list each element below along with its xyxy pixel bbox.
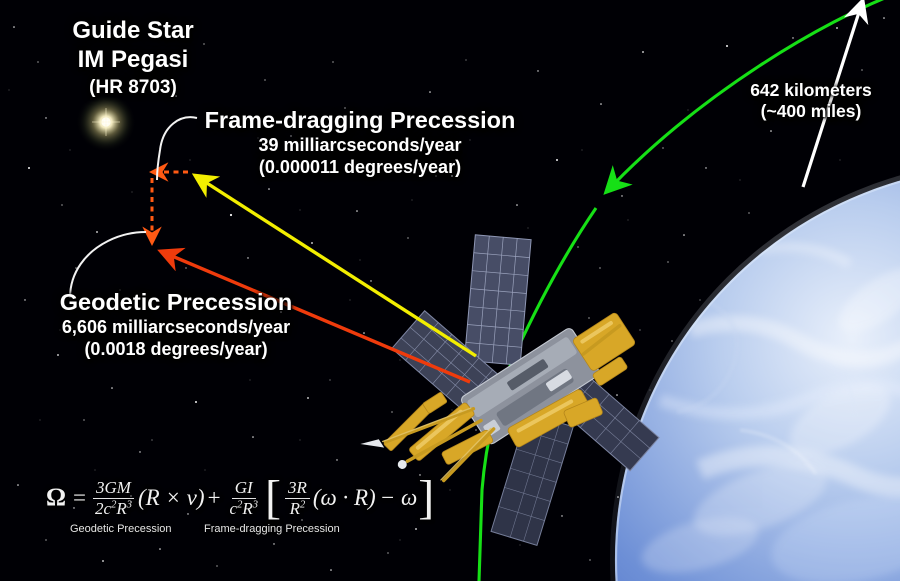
framedrag-minus-omega: − ω xyxy=(380,485,418,511)
geodetic-numerator: 3GM xyxy=(93,479,134,499)
diagram-canvas: Guide Star IM Pegasi (HR 8703) Frame-dra… xyxy=(0,0,900,581)
framedrag-den-base: c xyxy=(230,499,238,518)
geodetic-denominator: 2c2R3 xyxy=(92,499,135,518)
framedrag-inner-numerator: 3R xyxy=(285,479,310,499)
framedrag-inner-den-base: R xyxy=(290,499,300,518)
framedrag-inner-den-exp: 2 xyxy=(300,499,305,510)
formula-plus: + xyxy=(208,485,221,511)
geodetic-rate: 6,606 milliarcseconds/year xyxy=(36,317,316,339)
precession-formula: Ω = 3GM 2c2R3 (R × v) + GI c2R3 [ 3R R2 … xyxy=(46,470,435,539)
formula-caption-geodetic: Geodetic Precession xyxy=(70,523,172,535)
guide-star-catalog: (HR 8703) xyxy=(38,76,228,99)
frame-dragging-title: Frame-dragging Precession xyxy=(200,106,520,135)
frame-dragging-rate: 39 milliarcseconds/year xyxy=(200,135,520,157)
altitude-miles: (~400 miles) xyxy=(726,101,896,122)
bracket-open: [ xyxy=(265,479,281,517)
altitude-km: 642 kilometers xyxy=(726,80,896,101)
formula-omega: Ω xyxy=(46,484,66,512)
guide-star-line2: IM Pegasi xyxy=(38,45,228,74)
star-icon xyxy=(76,92,136,152)
guide-star-line1: Guide Star xyxy=(38,16,228,45)
framedrag-denominator: c2R3 xyxy=(227,499,261,518)
geodetic-title: Geodetic Precession xyxy=(36,288,316,317)
bracket-close: ] xyxy=(418,479,434,517)
geodetic-rate-degrees: (0.0018 degrees/year) xyxy=(36,339,316,361)
formula-captions: Geodetic Precession Frame-dragging Prece… xyxy=(46,523,435,539)
formula-caption-framedragging: Frame-dragging Precession xyxy=(204,523,340,535)
framedrag-inner-denominator: R2 xyxy=(287,499,309,518)
framedrag-den-mid: R xyxy=(242,499,252,518)
frame-dragging-label: Frame-dragging Precession 39 milliarcsec… xyxy=(200,106,520,179)
formula-equation: Ω = 3GM 2c2R3 (R × v) + GI c2R3 [ 3R R2 … xyxy=(46,470,435,526)
framedrag-inner-fraction: 3R R2 xyxy=(285,479,310,517)
framedrag-den-exp2: 3 xyxy=(253,499,258,510)
altitude-label: 642 kilometers (~400 miles) xyxy=(726,80,896,123)
geodetic-label: Geodetic Precession 6,606 milliarcsecond… xyxy=(36,288,316,361)
geodetic-den-exp2: 3 xyxy=(127,499,132,510)
framedrag-numerator: GI xyxy=(232,479,256,499)
framedrag-fraction: GI c2R3 xyxy=(227,479,261,517)
geodetic-fraction: 3GM 2c2R3 xyxy=(92,479,135,517)
frame-dragging-rate-degrees: (0.000011 degrees/year) xyxy=(200,157,520,179)
framedrag-inner-vector: (ω · R) xyxy=(313,485,376,511)
geodetic-den-base: 2c xyxy=(95,499,111,518)
geodetic-vector: (R × v) xyxy=(138,485,205,511)
geodetic-den-mid: R xyxy=(116,499,126,518)
formula-equals: = xyxy=(73,485,86,511)
guide-star-label: Guide Star IM Pegasi (HR 8703) xyxy=(38,16,228,99)
